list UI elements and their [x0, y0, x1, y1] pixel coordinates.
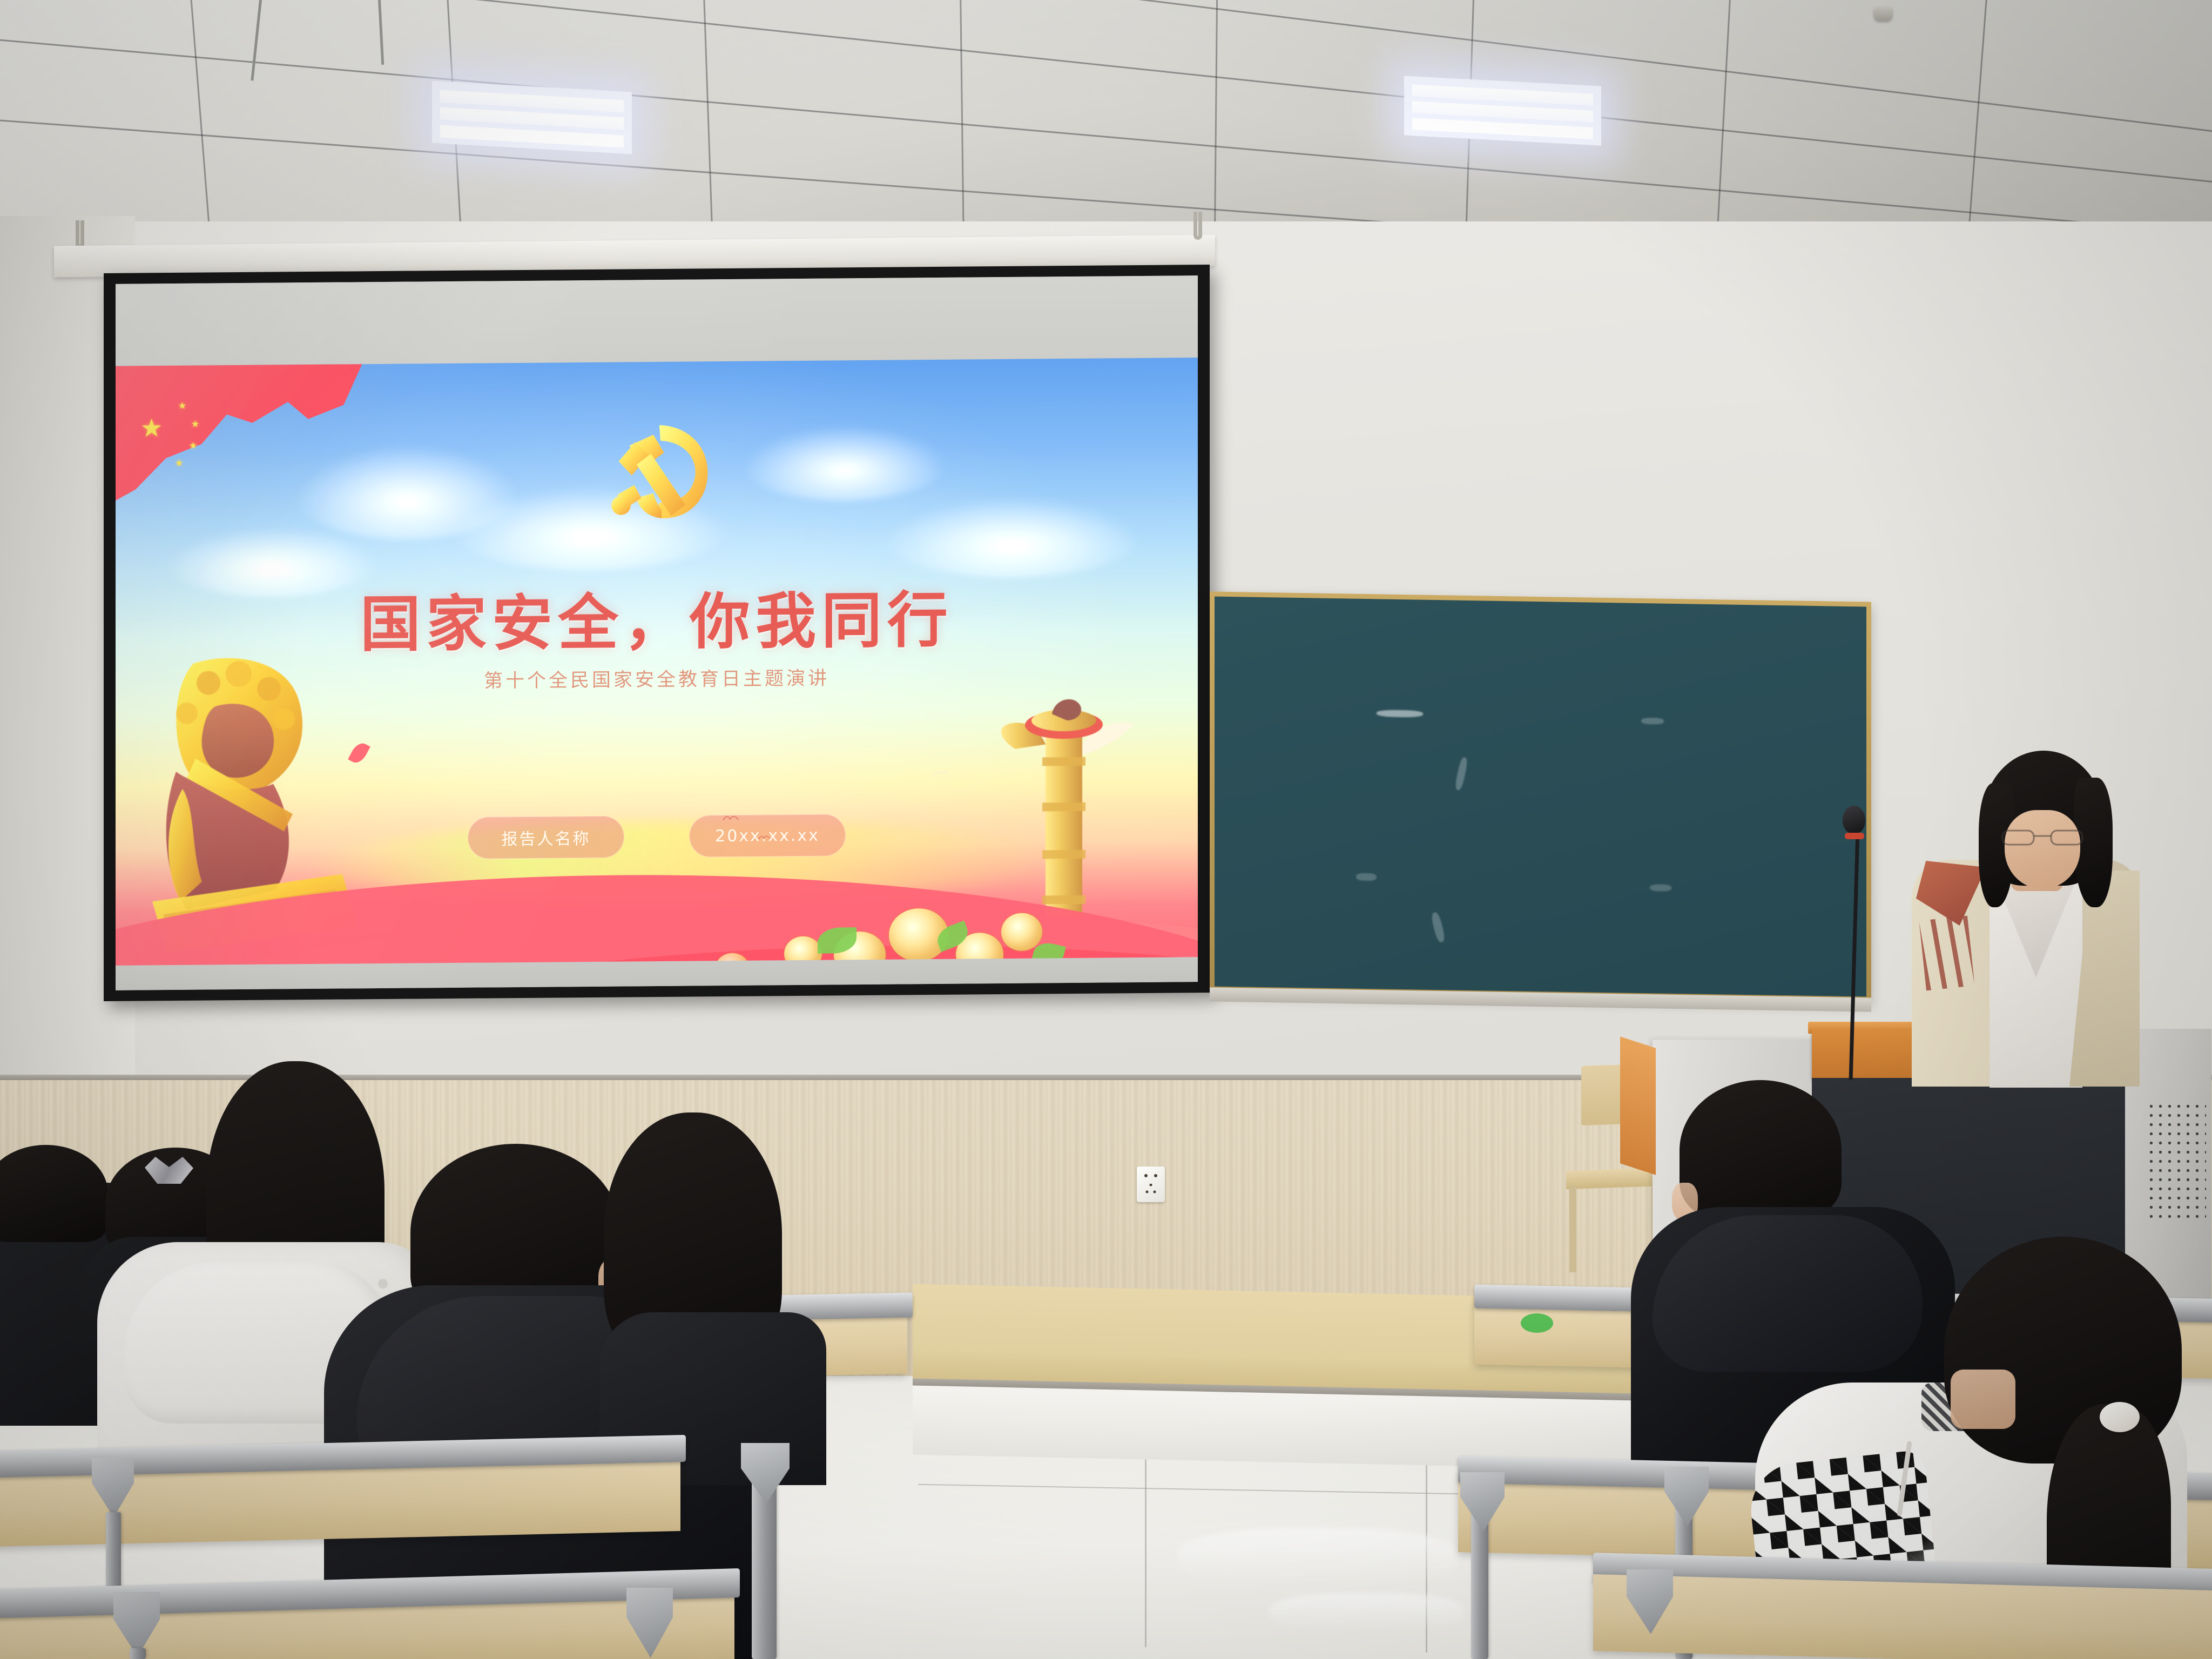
slide-title: 国家安全，你我同行	[116, 569, 1198, 665]
cabinet-speaker-grille-right	[2147, 1102, 2206, 1218]
cpc-emblem-icon	[599, 417, 724, 532]
presenter-name-placeholder: 报告人名称	[468, 815, 624, 859]
flag-star-2: ★	[191, 420, 199, 429]
screen-mount-hook-left	[76, 220, 84, 248]
screen-mount-hook-right	[1193, 212, 1202, 240]
student-white-jacket-drawstring	[378, 1279, 388, 1289]
student-black-hoodie-hood	[1653, 1215, 1923, 1372]
presenter-face-lower	[2005, 810, 2080, 889]
suspended-ceiling	[0, 0, 2212, 232]
student-ponytail-neck	[1951, 1370, 2015, 1429]
flag-star-3: ★	[189, 441, 197, 450]
hair-tie-icon	[2100, 1402, 2140, 1432]
presenter-sleeve-stripes	[1919, 916, 1974, 991]
peony-flower	[1001, 913, 1042, 951]
blackboard	[1210, 591, 1871, 1001]
presentation-slide: ★ ★ ★ ★ ★	[116, 358, 1198, 987]
microphone-head-icon	[1843, 806, 1865, 834]
student-black-hoodie-hair	[1680, 1080, 1842, 1220]
desk-leg-front	[130, 1648, 146, 1659]
presenter-glasses-icon	[2001, 828, 2083, 847]
flag-star-4: ★	[175, 458, 183, 468]
desk-green-sticker	[1521, 1313, 1553, 1333]
ceiling-light-left	[432, 81, 632, 154]
presentation-date-placeholder: 20xx.xx.xx	[689, 814, 846, 857]
classroom-scene: ★ ★ ★ ★ ★	[0, 0, 2212, 1659]
ceiling-light-right	[1404, 76, 1601, 145]
screen-blank-area-top	[116, 275, 1198, 366]
flag-star-1: ★	[178, 401, 186, 410]
flag-star-large: ★	[140, 415, 163, 440]
microphone-ring	[1845, 833, 1864, 839]
power-outlet[interactable]	[1137, 1166, 1165, 1202]
smoke-detector-icon	[1874, 6, 1892, 21]
projection-screen[interactable]: ★ ★ ★ ★ ★	[104, 265, 1210, 1001]
cabinet-trim	[1620, 1036, 1656, 1175]
bird-icon	[934, 770, 948, 778]
chair-leg	[1569, 1186, 1576, 1272]
